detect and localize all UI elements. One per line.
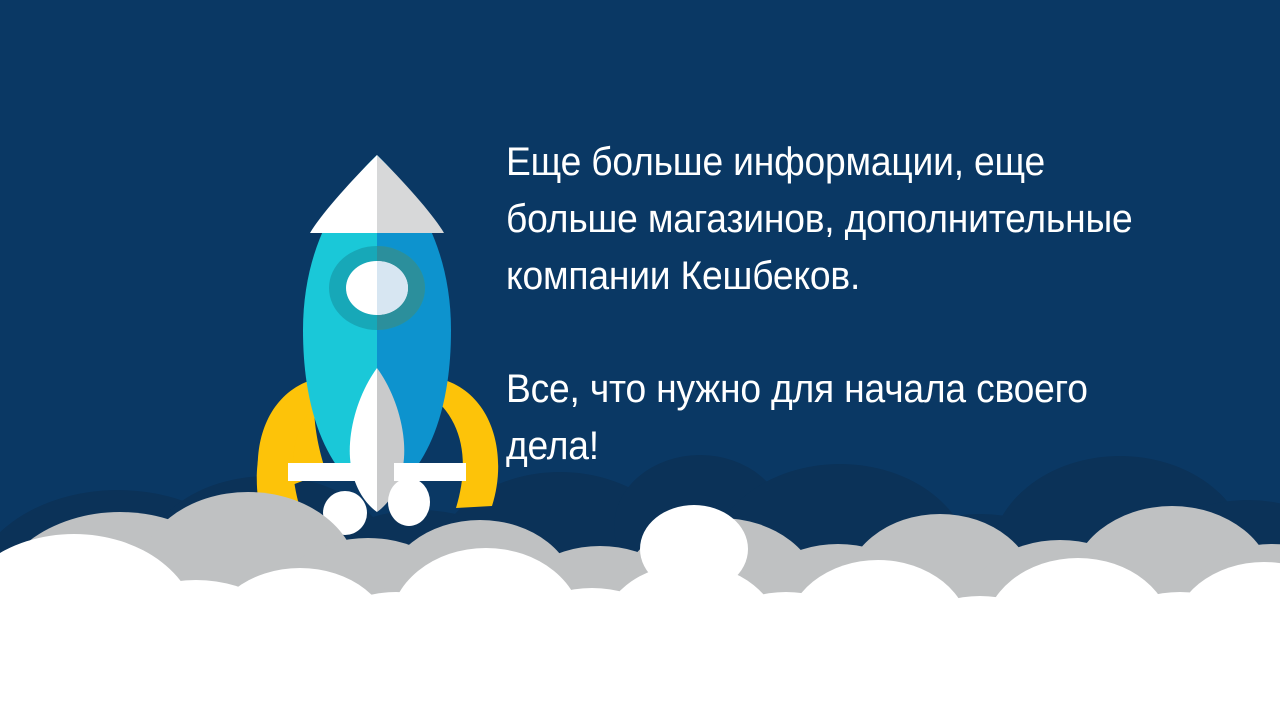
- body-paragraph-1: Еще больше информации, еще больше магази…: [506, 134, 1185, 305]
- rocket: [257, 155, 498, 535]
- slide-canvas: Еще больше информации, еще больше магази…: [0, 0, 1280, 720]
- slide-text-block: Еще больше информации, еще больше магази…: [506, 134, 1236, 475]
- porthole-window: [329, 246, 425, 330]
- flame-wing-left: [288, 463, 360, 481]
- flame-wing-right: [394, 463, 466, 481]
- rocket-nose-cone: [310, 155, 444, 233]
- nose-cone-light: [310, 155, 377, 233]
- smoke-puff-right: [388, 478, 430, 526]
- body-paragraph-2: Все, что нужно для начала своего дела!: [506, 361, 1185, 475]
- nose-cone-shadow: [377, 155, 444, 233]
